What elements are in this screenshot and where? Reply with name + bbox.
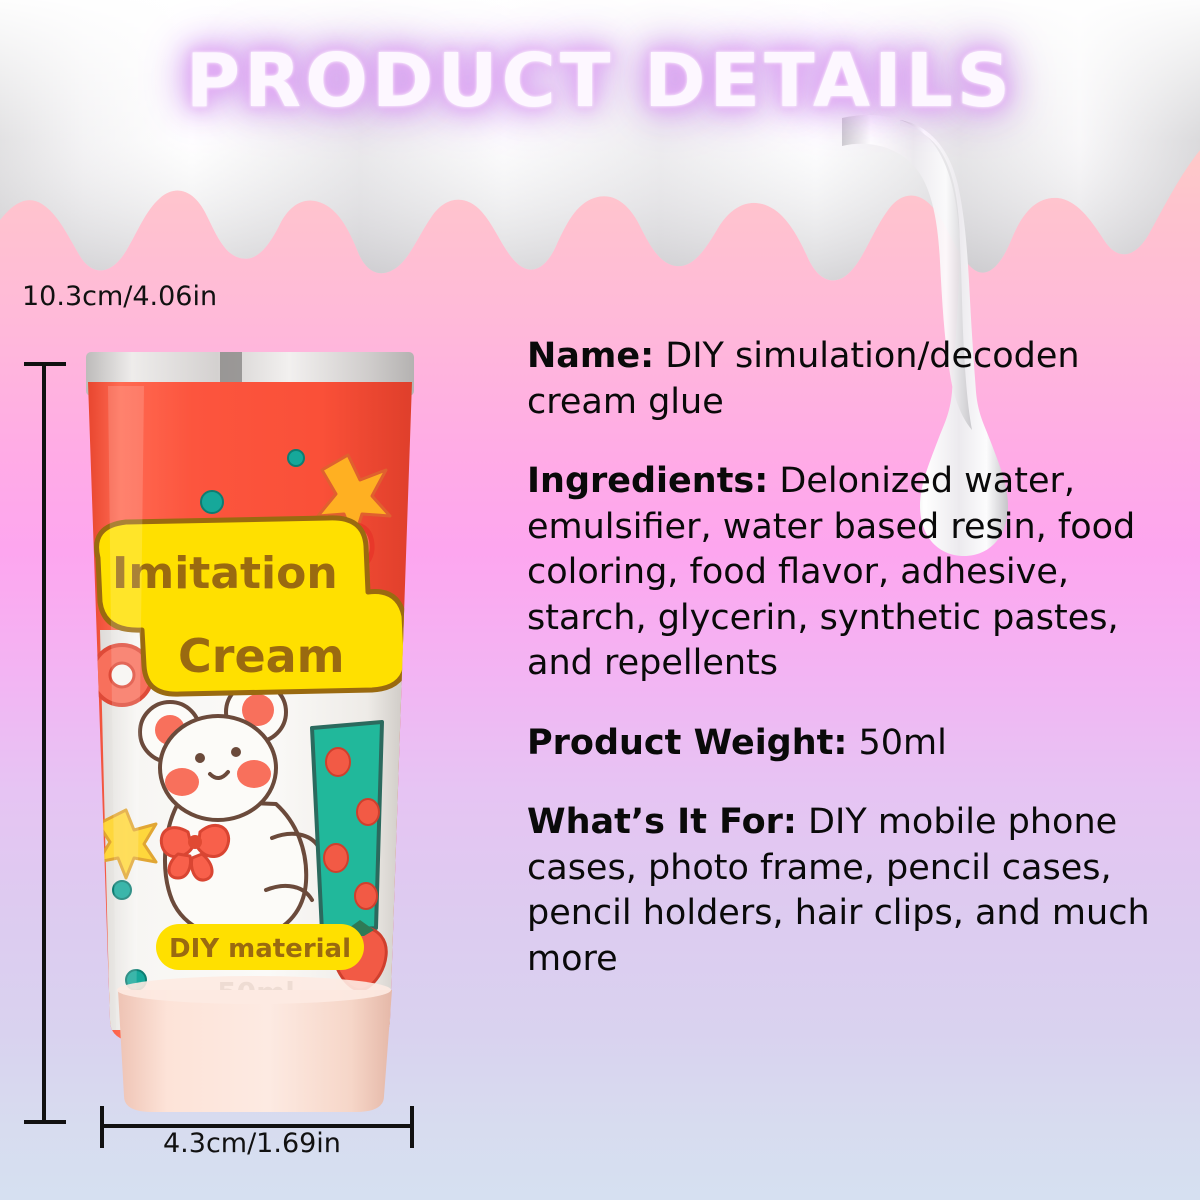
detail-value-weight: 50ml <box>847 723 946 763</box>
detail-label-usage: What’s It For: <box>527 802 797 842</box>
product-details-list: Name: DIY simulation/decoden cream glue … <box>527 334 1187 982</box>
width-dimension-line <box>96 1104 418 1148</box>
brand-name-line1: Imitation <box>112 548 338 599</box>
height-dimension-line <box>22 358 66 1128</box>
detail-label-ingredients: Ingredients: <box>527 461 768 501</box>
brand-name-line2: Cream <box>178 629 345 683</box>
product-tube-image: Imitation Cream DIY material 50ml <box>60 330 440 1130</box>
detail-label-name: Name: <box>527 336 654 376</box>
detail-block-name: Name: DIY simulation/decoden cream glue <box>527 334 1187 425</box>
diy-material-badge-text: DIY material <box>169 934 351 964</box>
detail-label-weight: Product Weight: <box>527 723 847 763</box>
page-title: PRODUCT DETAILS <box>0 38 1200 124</box>
height-dimension-label: 10.3cm/4.06in <box>22 281 217 312</box>
detail-block-usage: What’s It For: DIY mobile phone cases, p… <box>527 800 1187 982</box>
product-details-page: PRODUCT DETAILS 10.3cm/4.06in <box>0 0 1200 1200</box>
detail-block-weight: Product Weight: 50ml <box>527 721 1187 767</box>
detail-block-ingredients: Ingredients: Delonized water, emulsifier… <box>527 459 1187 687</box>
